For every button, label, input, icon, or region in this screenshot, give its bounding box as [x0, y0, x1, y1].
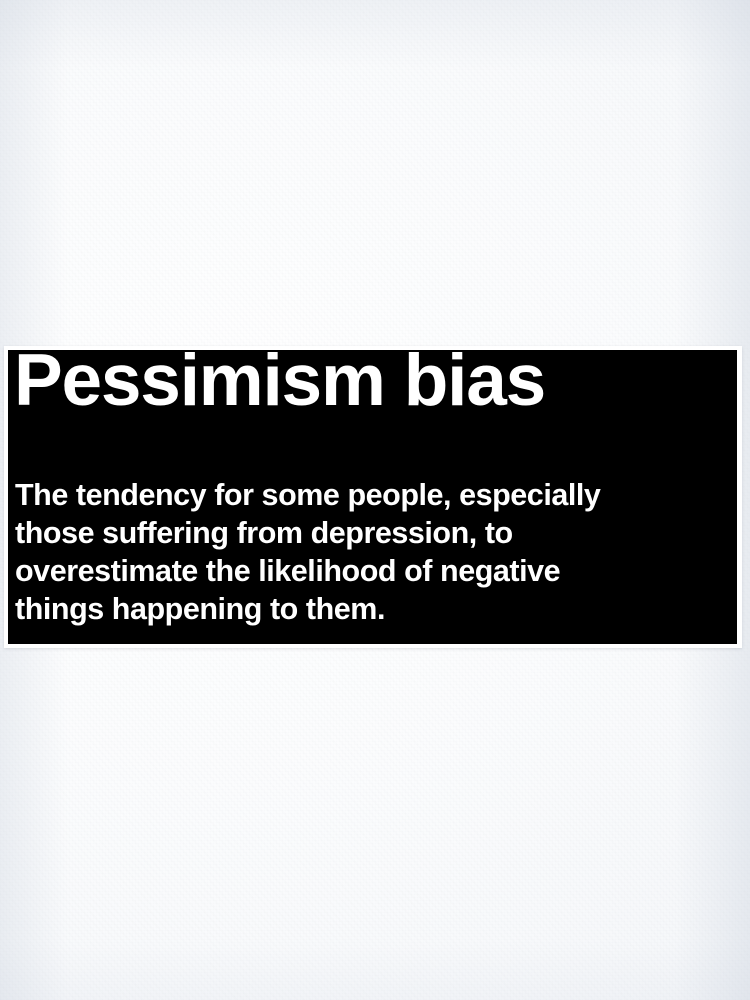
definition-title: Pessimism bias	[14, 350, 545, 417]
definition-banner-inner: Pessimism bias The tendency for some peo…	[8, 350, 737, 644]
definition-body-text: The tendency for some people, especially…	[15, 476, 737, 628]
poster-image: Pessimism bias The tendency for some peo…	[0, 0, 750, 1000]
definition-banner: Pessimism bias The tendency for some peo…	[4, 346, 742, 648]
